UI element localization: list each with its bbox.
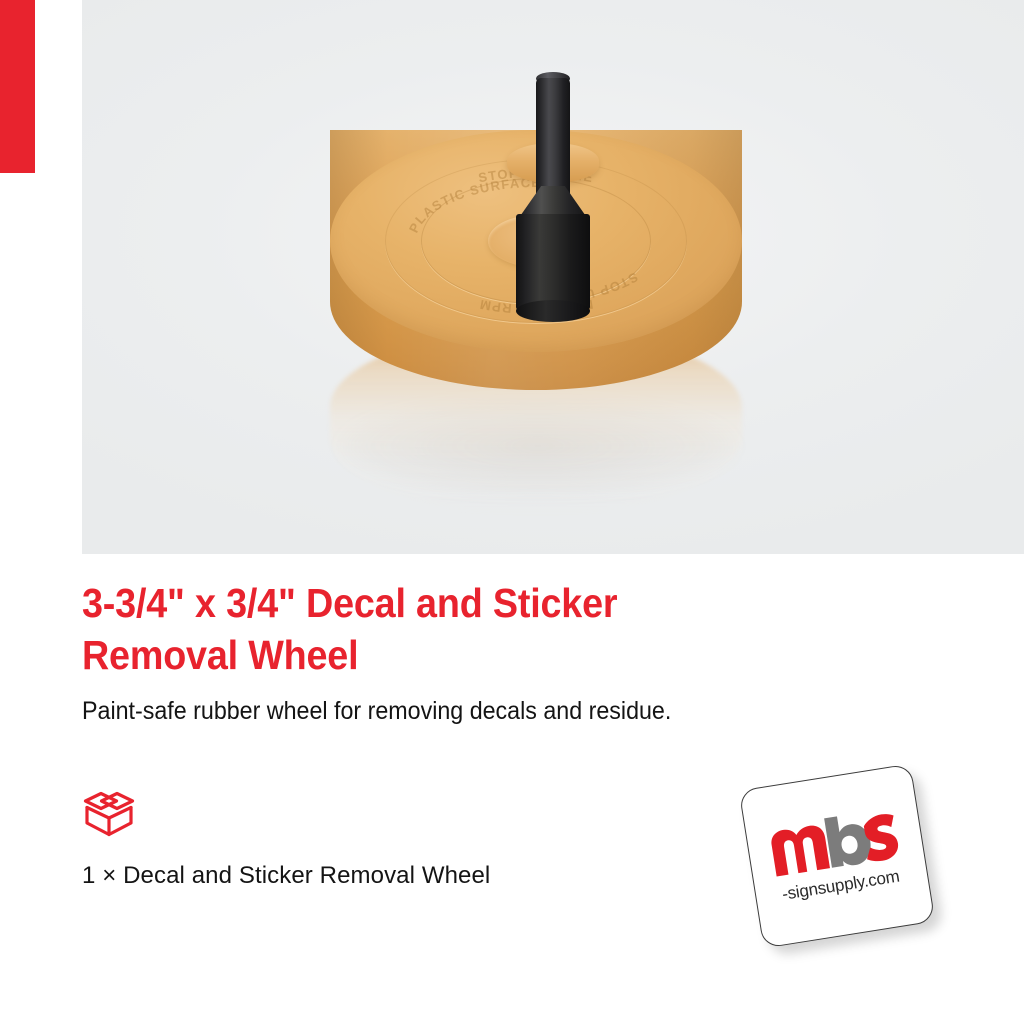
- brand-logo[interactable]: -signsupply.com: [742, 766, 932, 944]
- arbor-shank: [536, 78, 570, 196]
- package-contents-line: 1 × Decal and Sticker Removal Wheel: [82, 838, 702, 891]
- red-accent-bar: [0, 0, 35, 173]
- product-image-panel: STOP USE LINE MAX. 4000 RPM USE ON PLAST…: [82, 0, 1024, 554]
- open-box-icon: [82, 790, 136, 838]
- arbor-spindle: [493, 0, 613, 260]
- brand-logo-content: -signsupply.com: [739, 764, 934, 947]
- product-text-block: 3-3/4" x 3/4" Decal and Sticker Removal …: [82, 554, 972, 728]
- product-title: 3-3/4" x 3/4" Decal and Sticker Removal …: [82, 554, 726, 681]
- package-contents: 1 × Decal and Sticker Removal Wheel: [82, 790, 702, 891]
- product-card: STOP USE LINE MAX. 4000 RPM USE ON PLAST…: [0, 0, 1024, 1024]
- product-subtitle: Paint-safe rubber wheel for removing dec…: [82, 681, 910, 728]
- arbor-barrel: [516, 214, 590, 310]
- product-photo: STOP USE LINE MAX. 4000 RPM USE ON PLAST…: [82, 0, 1024, 554]
- arbor-barrel-base: [516, 300, 590, 322]
